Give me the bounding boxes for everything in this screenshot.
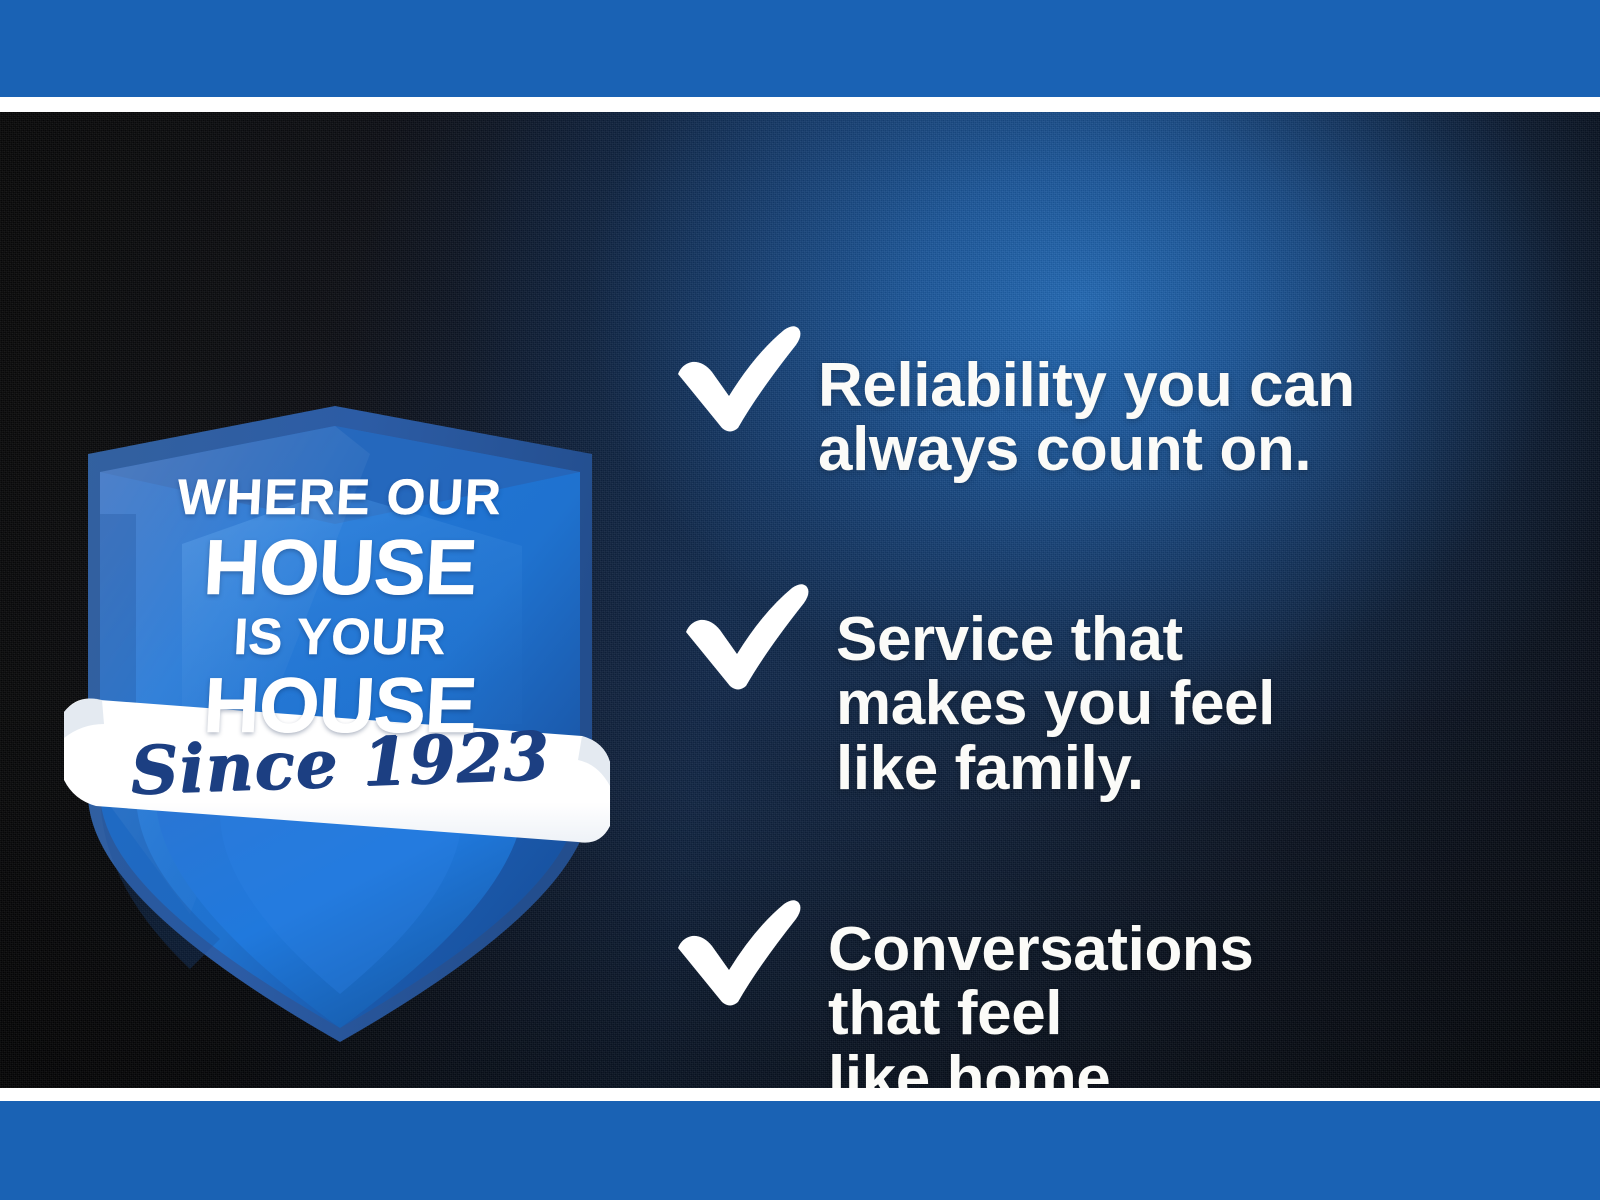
- check-icon: [680, 578, 812, 690]
- benefit-item-1: Reliability you can always count on.: [672, 320, 1355, 483]
- benefit-text-2: Service that makes you feel like family.: [836, 608, 1275, 801]
- shield-badge: WHERE OUR HOUSE IS YOUR HOUSE Since 1923: [70, 394, 610, 1054]
- benefit-text-1: Reliability you can always count on.: [818, 354, 1355, 483]
- benefit-item-3: Conversations that feel like home.: [672, 894, 1253, 1088]
- benefit-2-line-2: makes you feel: [836, 672, 1275, 736]
- benefit-2-line-3: like family.: [836, 737, 1275, 801]
- benefit-item-2: Service that makes you feel like family.: [680, 578, 1275, 801]
- top-divider-rule: [0, 97, 1600, 112]
- ribbon-label: Since 1923: [129, 716, 551, 809]
- benefit-3-line-2: that feel: [828, 982, 1253, 1046]
- shield-line-2: HOUSE: [76, 528, 604, 606]
- benefit-1-line-2: always count on.: [818, 418, 1355, 482]
- check-icon: [672, 894, 804, 1006]
- check-icon: [672, 320, 804, 432]
- main-canvas: WHERE OUR HOUSE IS YOUR HOUSE Since 1923…: [0, 112, 1600, 1088]
- benefit-1-line-1: Reliability you can: [818, 354, 1355, 418]
- benefit-3-line-3: like home.: [828, 1047, 1253, 1088]
- bottom-divider-rule: [0, 1088, 1600, 1101]
- benefit-2-line-1: Service that: [836, 608, 1275, 672]
- shield-lockup-text: WHERE OUR HOUSE IS YOUR HOUSE: [78, 472, 602, 744]
- benefit-3-line-1: Conversations: [828, 918, 1253, 982]
- shield-line-1: WHERE OUR: [77, 472, 604, 522]
- benefit-text-3: Conversations that feel like home.: [828, 918, 1253, 1088]
- banner-root: WHERE OUR HOUSE IS YOUR HOUSE Since 1923…: [0, 0, 1600, 1200]
- shield-line-3: IS YOUR: [77, 611, 604, 662]
